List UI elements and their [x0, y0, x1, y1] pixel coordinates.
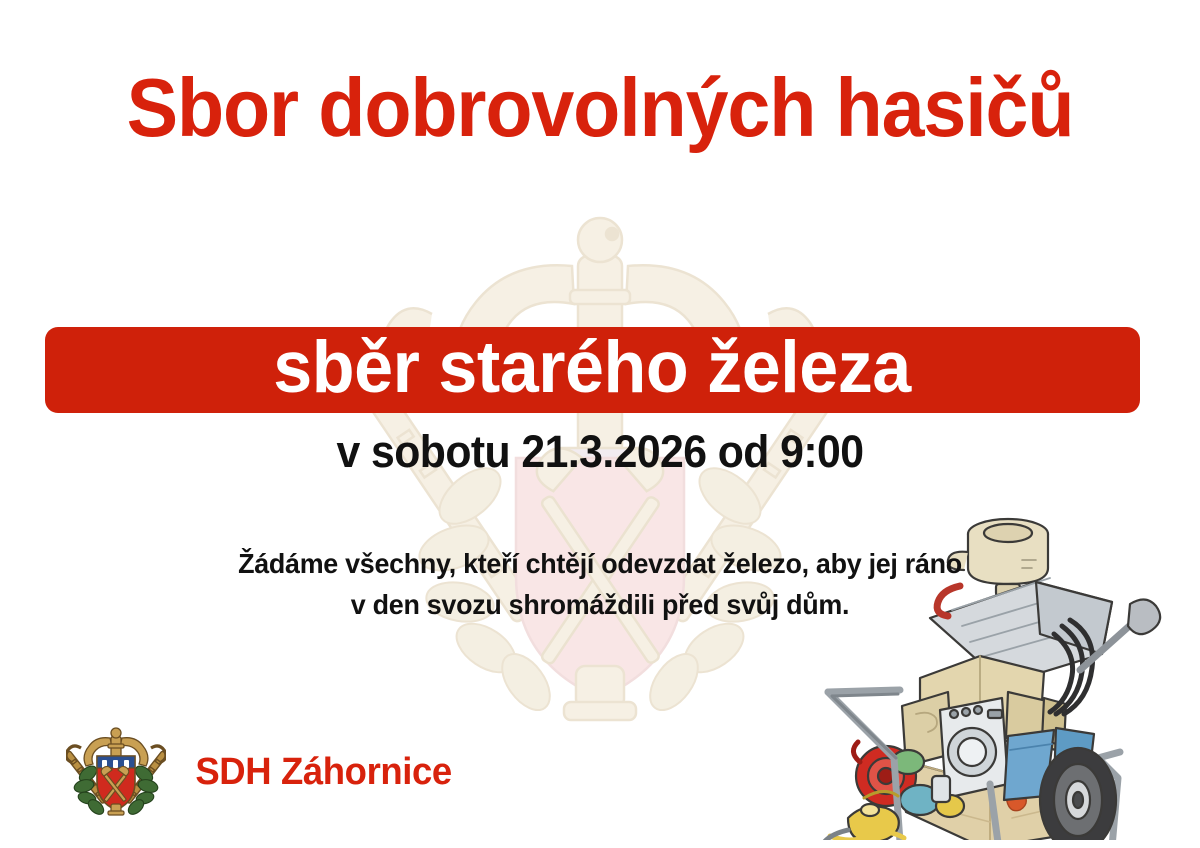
highlight-banner: sběr starého železa — [45, 327, 1140, 413]
banner-headline: sběr starého železa — [274, 331, 911, 410]
body-line-1: Žádáme všechny, kteří chtějí odevzdat že… — [24, 543, 1176, 584]
organisation-name: SDH Záhornice — [195, 753, 452, 791]
footer-identity: SDH Záhornice — [66, 726, 457, 818]
sdh-crest-icon — [66, 726, 166, 818]
body-line-2: v den svozu shromáždili před svůj dům. — [24, 584, 1176, 625]
poster-canvas: Sbor dobrovolných hasičů sběr starého že… — [0, 0, 1200, 848]
event-dateline: v sobotu 21.3.2026 od 9:00 — [30, 425, 1170, 478]
page-title: Sbor dobrovolných hasičů — [42, 66, 1158, 151]
body-paragraph: Žádáme všechny, kteří chtějí odevzdat že… — [24, 543, 1176, 626]
